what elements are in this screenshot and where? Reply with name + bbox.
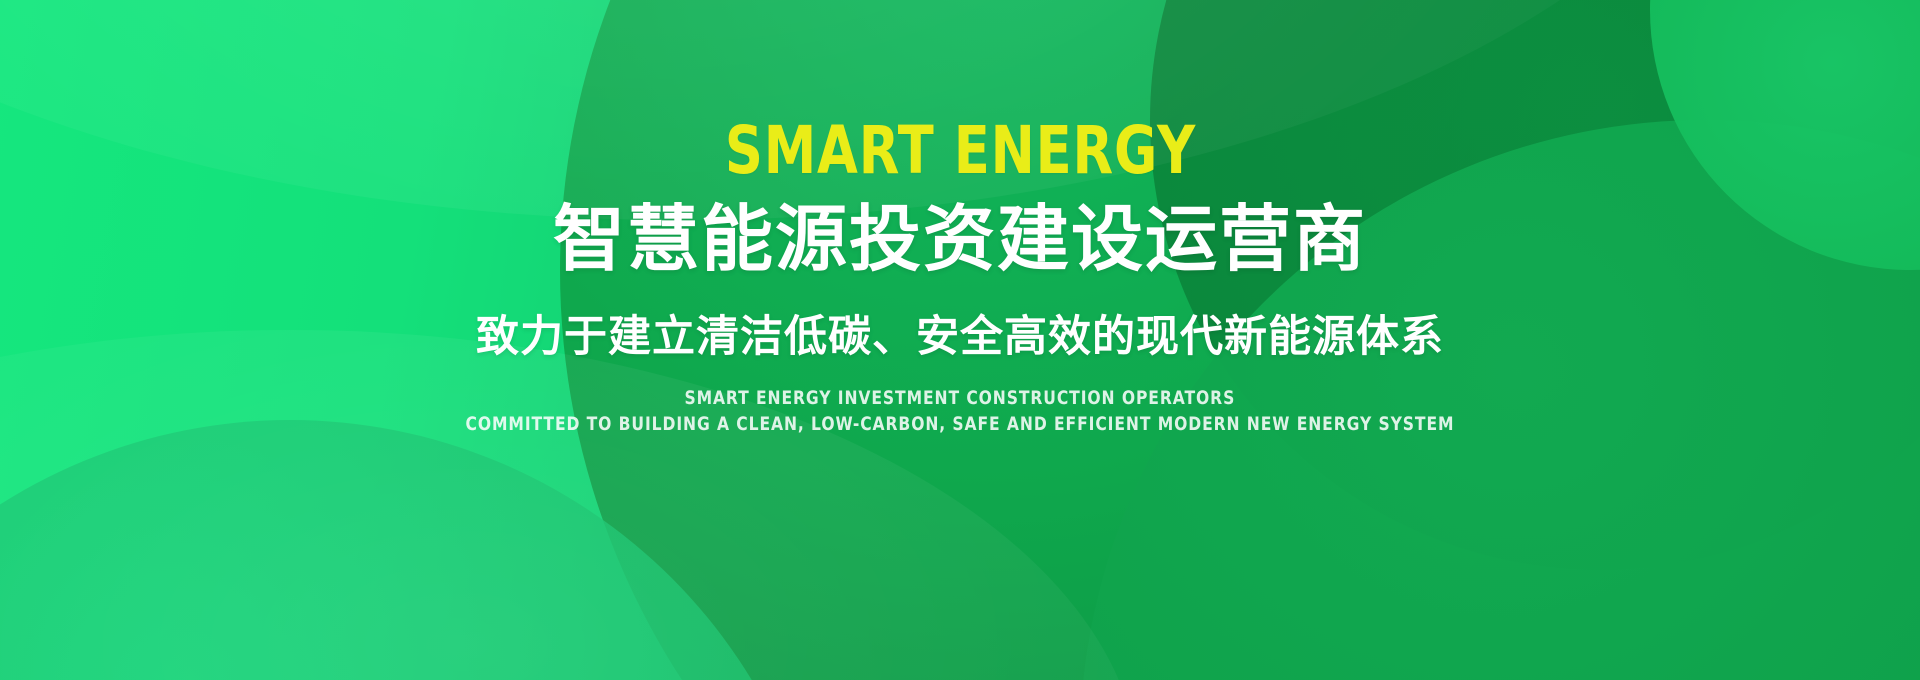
- hero-subtitle-english-line-2: COMMITTED TO BUILDING A CLEAN, LOW-CARBO…: [466, 413, 1455, 437]
- hero-subtitle-english-line-1: SMART ENERGY INVESTMENT CONSTRUCTION OPE…: [685, 387, 1236, 411]
- hero-title-chinese: 智慧能源投资建设运营商: [553, 202, 1367, 278]
- hero-title-english: SMART ENERGY: [724, 118, 1195, 184]
- hero-text-block: SMART ENERGY 智慧能源投资建设运营商 致力于建立清洁低碳、安全高效的…: [0, 0, 1920, 680]
- hero-subtitle-chinese: 致力于建立清洁低碳、安全高效的现代新能源体系: [476, 314, 1444, 361]
- hero-banner: SMART ENERGY 智慧能源投资建设运营商 致力于建立清洁低碳、安全高效的…: [0, 0, 1920, 680]
